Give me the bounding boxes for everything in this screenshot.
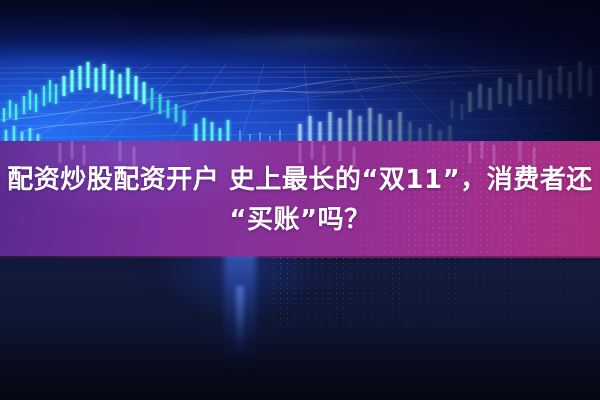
headline-line-2: “买账”吗？ bbox=[229, 200, 370, 240]
banner-image: 配资炒股配资开户 史上最长的“双11”，消费者还 “买账”吗？ bbox=[0, 0, 600, 400]
right-shadow-overlay bbox=[300, 0, 600, 142]
dark-footer-background bbox=[0, 256, 600, 400]
headline-line-1: 配资炒股配资开户 史上最长的“双11”，消费者还 bbox=[7, 160, 592, 200]
bottom-vignette bbox=[0, 256, 600, 400]
stock-chart-background bbox=[0, 0, 600, 142]
headline: 配资炒股配资开户 史上最长的“双11”，消费者还 “买账”吗？ bbox=[0, 141, 600, 257]
